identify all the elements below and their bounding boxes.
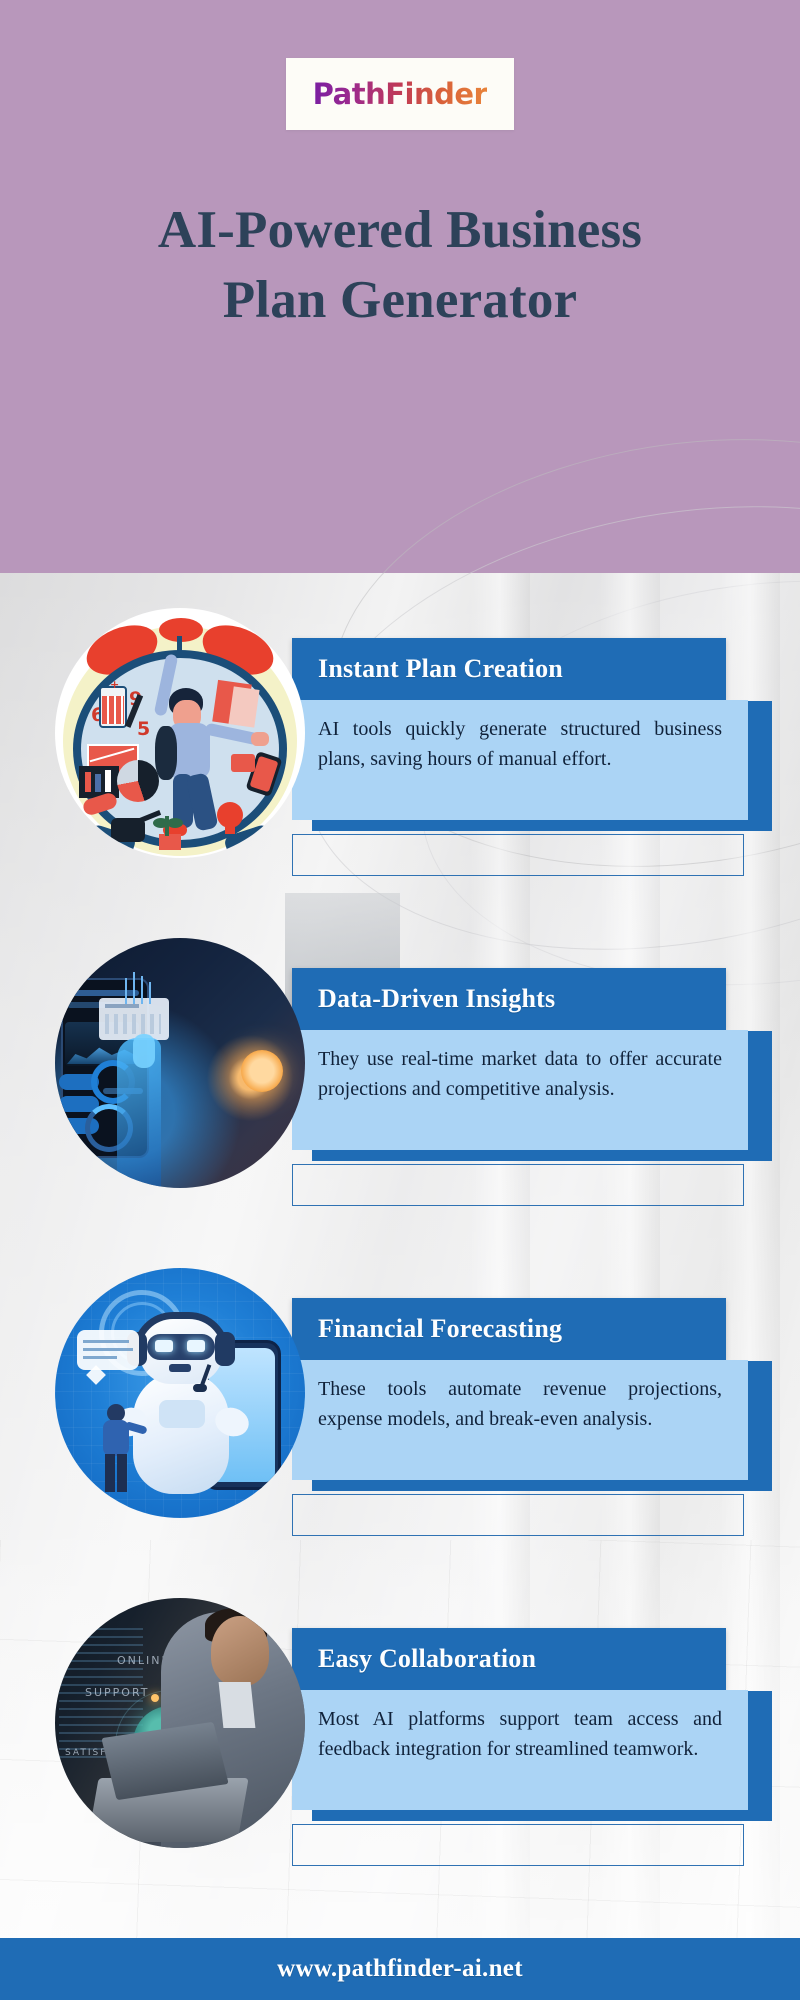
card-body-text: AI tools quickly generate structured bus…: [292, 700, 748, 820]
card-panel: Instant Plan Creation AI tools quickly g…: [292, 638, 772, 820]
card-illustration-chatbot-robot: [55, 1268, 305, 1518]
card-header-bar: Data-Driven Insights: [292, 968, 726, 1030]
overlay-label-support: SUPPORT: [85, 1686, 150, 1699]
page-title-line-2: Plan Generator: [223, 271, 578, 329]
card-title: Data-Driven Insights: [318, 984, 555, 1014]
footer-website-link[interactable]: www.pathfinder-ai.net: [277, 1955, 523, 1983]
logo-plate: PathFinder: [286, 58, 514, 130]
panel-outline-accent: [292, 1164, 744, 1206]
card-title: Instant Plan Creation: [318, 654, 563, 684]
brand-logo-text: PathFinder: [313, 77, 488, 111]
card-illustration-data-dashboard: [55, 938, 305, 1188]
card-illustration-businessman-laptop: ONLINE SUPPORT SATISFACTION CUSTOMER: [55, 1598, 305, 1848]
card-panel: Financial Forecasting These tools automa…: [292, 1298, 772, 1480]
hero-section: PathFinder AI-Powered Business Plan Gene…: [0, 0, 800, 573]
panel-outline-accent: [292, 1494, 744, 1536]
card-header-bar: Financial Forecasting: [292, 1298, 726, 1360]
footer-bar: www.pathfinder-ai.net: [0, 1938, 800, 2000]
card-body-text: Most AI platforms support team access an…: [292, 1690, 748, 1810]
head-shape: [211, 1616, 269, 1686]
card-header-bar: Easy Collaboration: [292, 1628, 726, 1690]
card-panel: Easy Collaboration Most AI platforms sup…: [292, 1628, 772, 1810]
card-body-text: They use real-time market data to offer …: [292, 1030, 748, 1150]
panel-outline-accent: [292, 1824, 744, 1866]
panel-outline-accent: [292, 834, 744, 876]
card-body-text: These tools automate revenue projections…: [292, 1360, 748, 1480]
card-header-bar: Instant Plan Creation: [292, 638, 726, 700]
infographic-page: PathFinder AI-Powered Business Plan Gene…: [0, 0, 800, 2000]
page-title: AI-Powered Business Plan Generator: [70, 196, 730, 336]
card-title: Financial Forecasting: [318, 1314, 562, 1344]
card-illustration-alarm-clock: 6 9 5 +: [55, 608, 305, 858]
card-panel: Data-Driven Insights They use real-time …: [292, 968, 772, 1150]
card-title: Easy Collaboration: [318, 1644, 536, 1674]
page-title-line-1: AI-Powered Business: [158, 201, 642, 259]
